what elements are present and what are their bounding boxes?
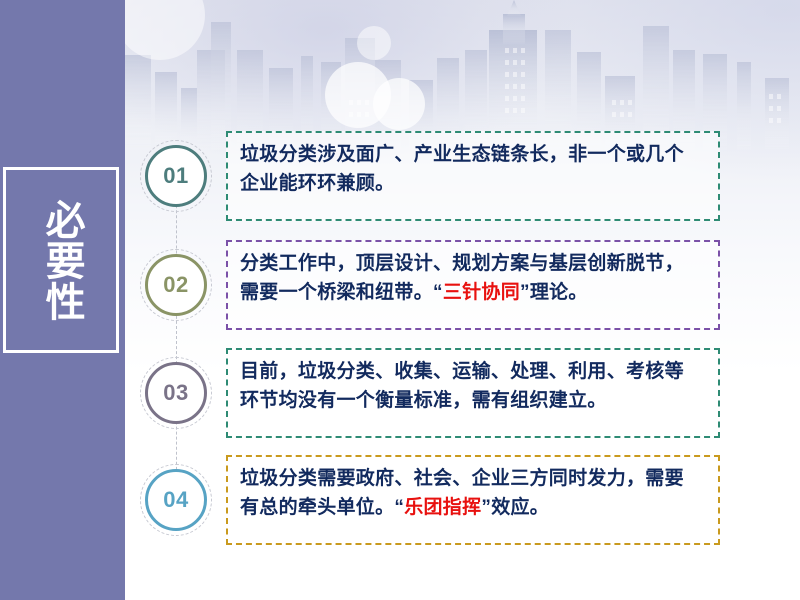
circle-badge: 04 [145, 469, 207, 531]
content-box-02[interactable]: 分类工作中，顶层设计、规划方案与基层创新脱节， 需要一个桥梁和纽带。“三针协同”… [226, 240, 720, 330]
content-line: 有总的牵头单位。“乐团指挥”效应。 [240, 494, 708, 523]
step-number: 01 [163, 163, 188, 189]
content-line: 需要一个桥梁和纽带。“三针协同”理论。 [240, 279, 708, 308]
step-marker-02[interactable]: 02 [140, 249, 212, 321]
side-panel: 必要性 [0, 0, 125, 600]
content-line: 垃圾分类涉及面广、产业生态链条长，非一个或几个 [240, 141, 708, 170]
step-marker-03[interactable]: 03 [140, 357, 212, 429]
content-line: 环节均没有一个衡量标准，需有组织建立。 [240, 387, 708, 416]
side-title-box: 必要性 [3, 167, 119, 353]
list-item[interactable]: 02 分类工作中，顶层设计、规划方案与基层创新脱节， 需要一个桥梁和纽带。“三针… [140, 240, 720, 330]
content-line: 分类工作中，顶层设计、规划方案与基层创新脱节， [240, 250, 708, 279]
content-box-03[interactable]: 目前，垃圾分类、收集、运输、处理、利用、考核等 环节均没有一个衡量标准，需有组织… [226, 348, 720, 438]
step-number: 04 [163, 487, 188, 513]
circle-badge: 03 [145, 362, 207, 424]
step-number: 02 [163, 272, 188, 298]
circle-badge: 01 [145, 145, 207, 207]
slide-canvas: 必要性 01 垃圾分类涉及面广、产业生态链条长，非一个或几个 企业能环环兼顾。 … [0, 0, 800, 600]
step-number: 03 [163, 380, 188, 406]
page-title: 必要性 [37, 199, 84, 322]
content-line: 垃圾分类需要政府、社会、企业三方同时发力，需要 [240, 465, 708, 494]
content-box-01[interactable]: 垃圾分类涉及面广、产业生态链条长，非一个或几个 企业能环环兼顾。 [226, 131, 720, 221]
highlight-term: 三针协同 [443, 282, 520, 303]
step-marker-01[interactable]: 01 [140, 140, 212, 212]
list-item[interactable]: 01 垃圾分类涉及面广、产业生态链条长，非一个或几个 企业能环环兼顾。 [140, 131, 720, 221]
content-line: 企业能环环兼顾。 [240, 170, 708, 199]
content-box-04[interactable]: 垃圾分类需要政府、社会、企业三方同时发力，需要 有总的牵头单位。“乐团指挥”效应… [226, 455, 720, 545]
highlight-term: 乐团指挥 [404, 497, 481, 518]
content-line: 目前，垃圾分类、收集、运输、处理、利用、考核等 [240, 358, 708, 387]
circle-badge: 02 [145, 254, 207, 316]
list-item[interactable]: 03 目前，垃圾分类、收集、运输、处理、利用、考核等 环节均没有一个衡量标准，需… [140, 348, 720, 438]
step-marker-04[interactable]: 04 [140, 464, 212, 536]
list-item[interactable]: 04 垃圾分类需要政府、社会、企业三方同时发力，需要 有总的牵头单位。“乐团指挥… [140, 455, 720, 545]
timeline-connector-line [176, 175, 177, 495]
